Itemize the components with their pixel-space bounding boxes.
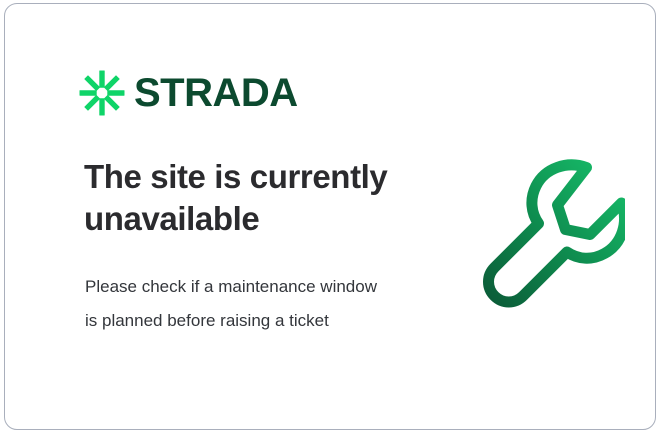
status-card: STRADA The site is currently unavailable… bbox=[4, 3, 656, 430]
error-page: STRADA The site is currently unavailable… bbox=[0, 0, 666, 436]
wrench-icon bbox=[457, 156, 625, 318]
page-title: The site is currently unavailable bbox=[84, 156, 414, 239]
brand-wordmark: STRADA bbox=[134, 73, 298, 113]
brand-logo: STRADA bbox=[79, 70, 298, 116]
asterisk-star-icon bbox=[79, 70, 125, 116]
page-description: Please check if a maintenance window is … bbox=[85, 270, 385, 338]
